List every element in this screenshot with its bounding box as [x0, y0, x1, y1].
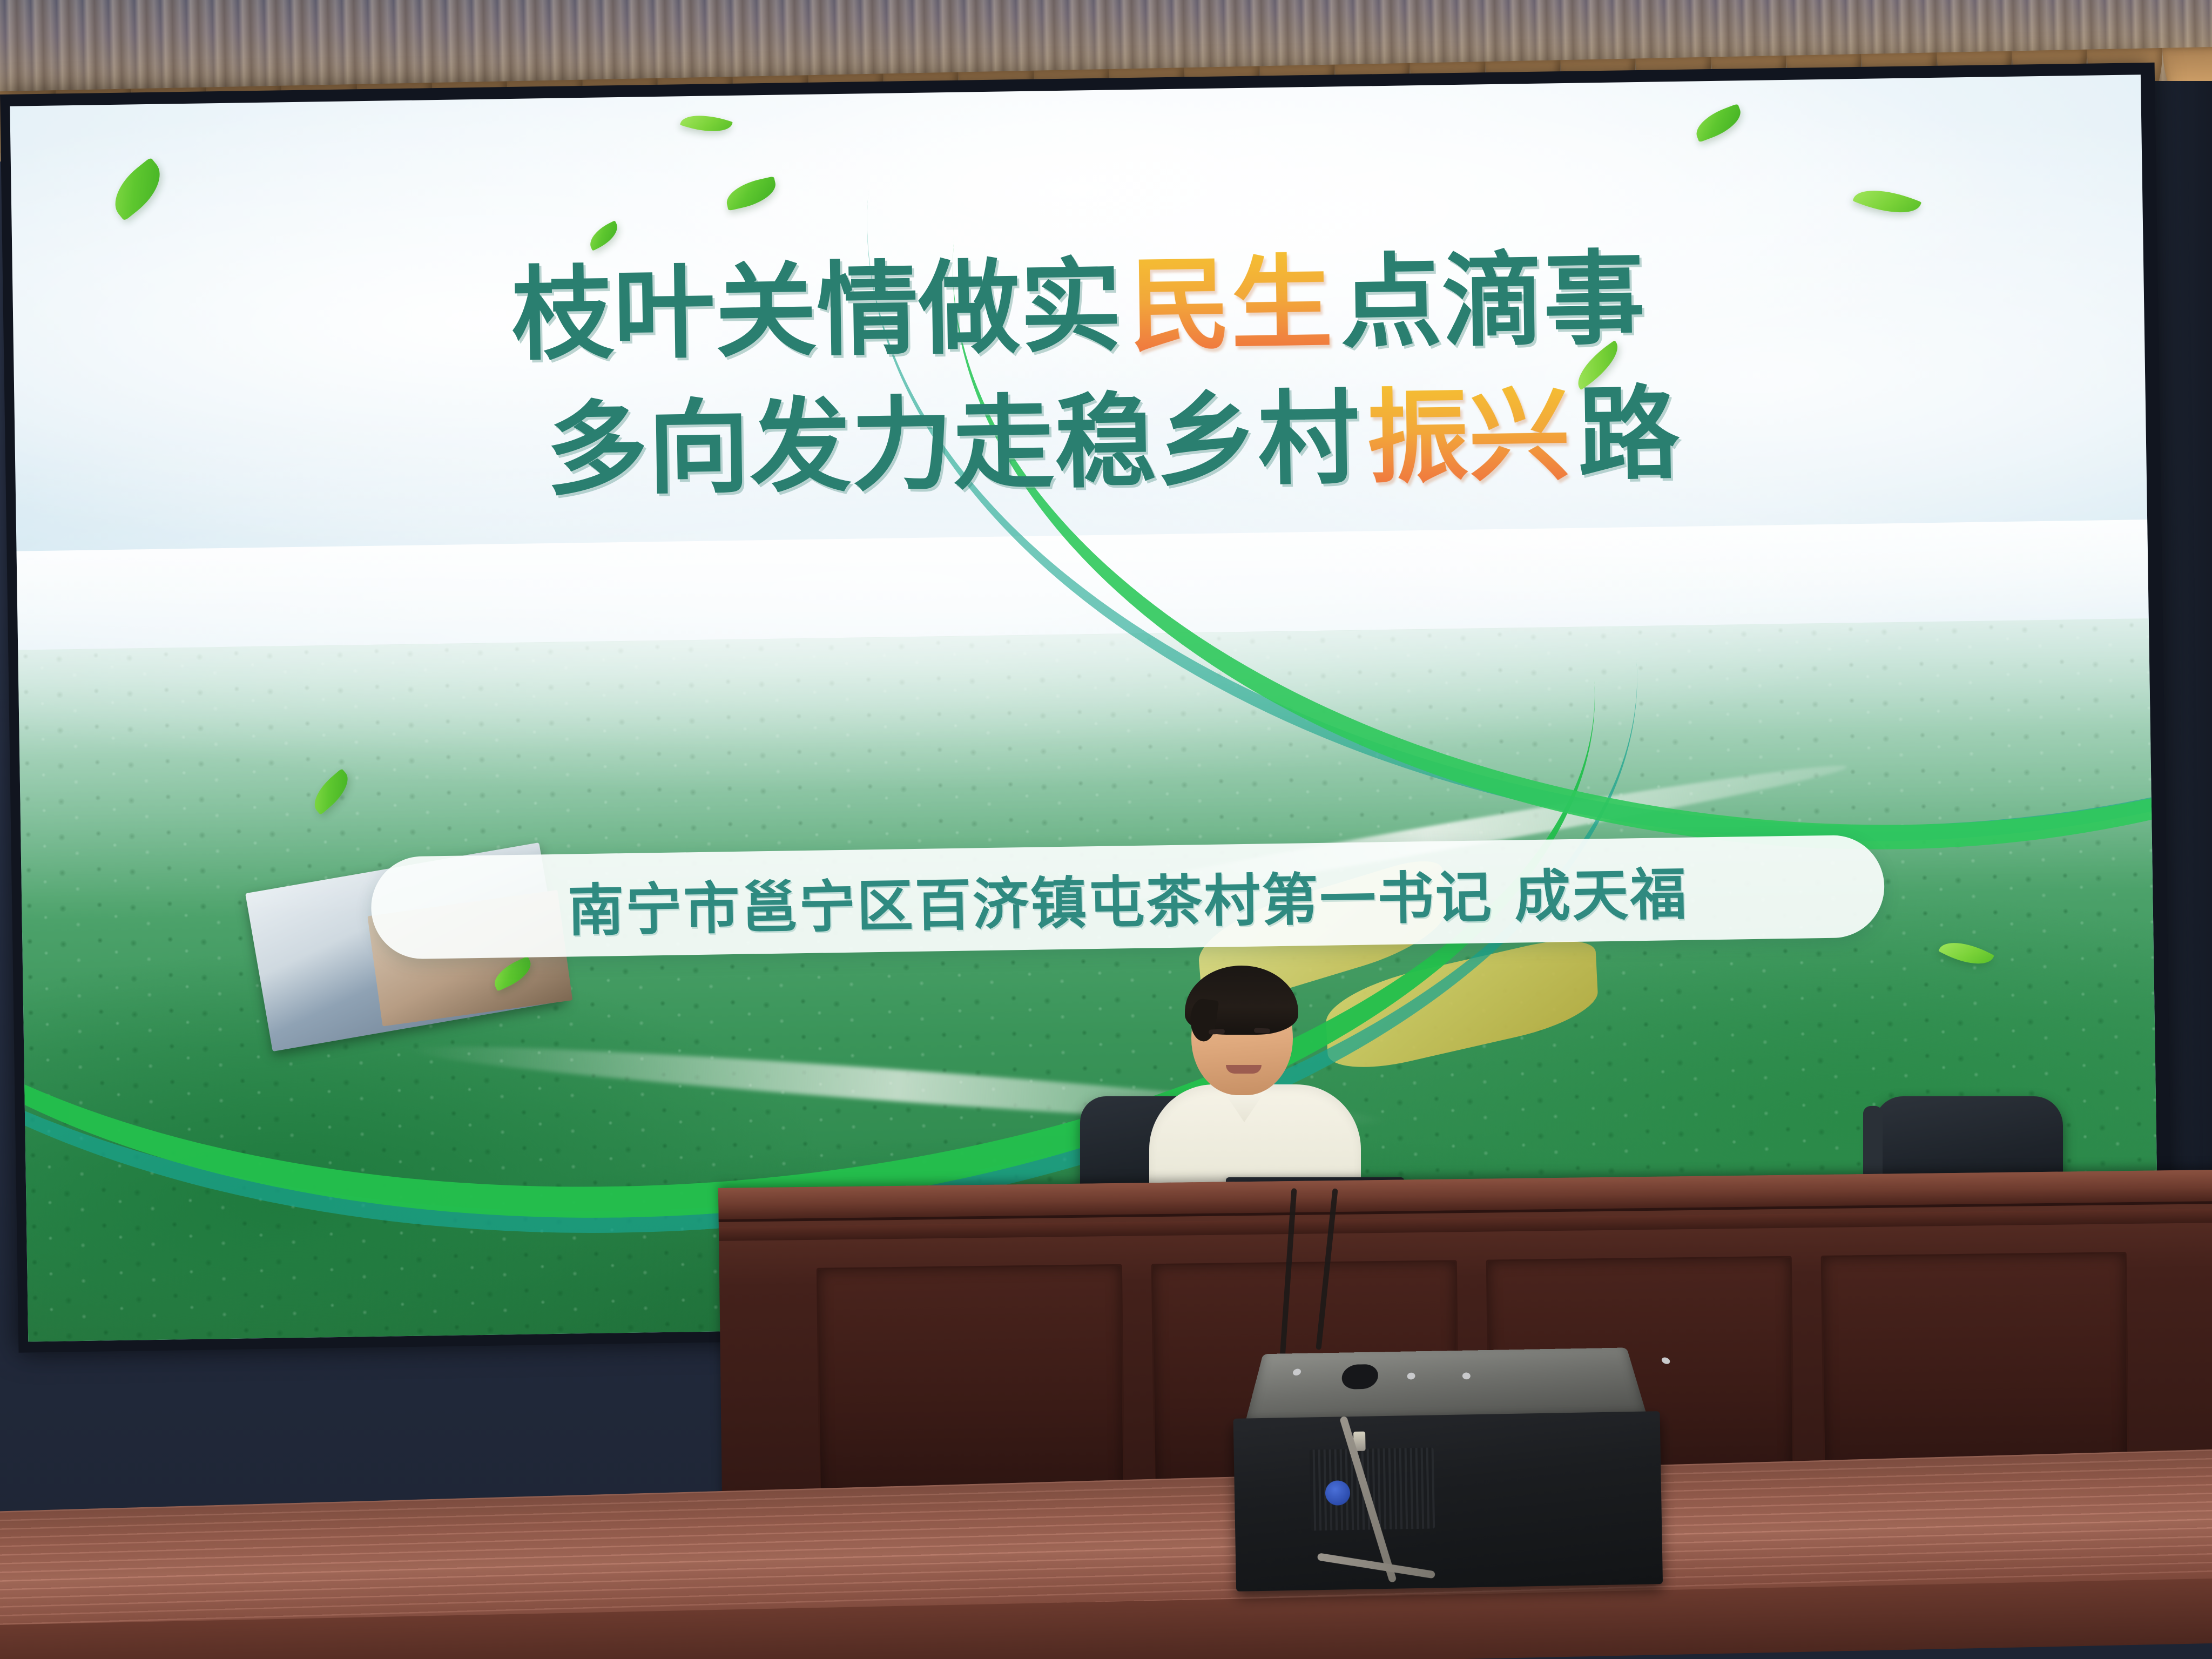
auditorium-scene: 枝叶关情做实民生点滴事 多向发力走稳乡村振兴路 南宁市邕宁区百济镇屯茶村第一书记…	[0, 0, 2212, 1659]
headline-line1-seg1: 枝叶关情做实	[511, 246, 1123, 375]
headline-line2-accent: 振兴	[1359, 375, 1579, 498]
presenter-mouth	[1226, 1065, 1262, 1074]
headline-line2-seg1: 多向发力走稳乡村	[545, 379, 1360, 510]
presenter-hair	[1185, 966, 1298, 1035]
presenter-eye-right	[1254, 1028, 1270, 1034]
desk-panel	[817, 1264, 1125, 1503]
slide-headline: 枝叶关情做实民生点滴事 多向发力走稳乡村振兴路	[12, 229, 2147, 520]
headline-line1-accent: 民生	[1121, 243, 1341, 366]
headline-line2-seg3: 路	[1577, 374, 1681, 495]
presenter-eye-left	[1209, 1029, 1225, 1035]
monitor-front-face	[1233, 1411, 1663, 1591]
headline-line1-seg3: 点滴事	[1339, 239, 1646, 362]
stage-monitor-speaker	[1232, 1330, 1663, 1591]
subtitle-text: 南宁市邕宁区百济镇屯茶村第一书记 成天福	[567, 848, 1689, 947]
